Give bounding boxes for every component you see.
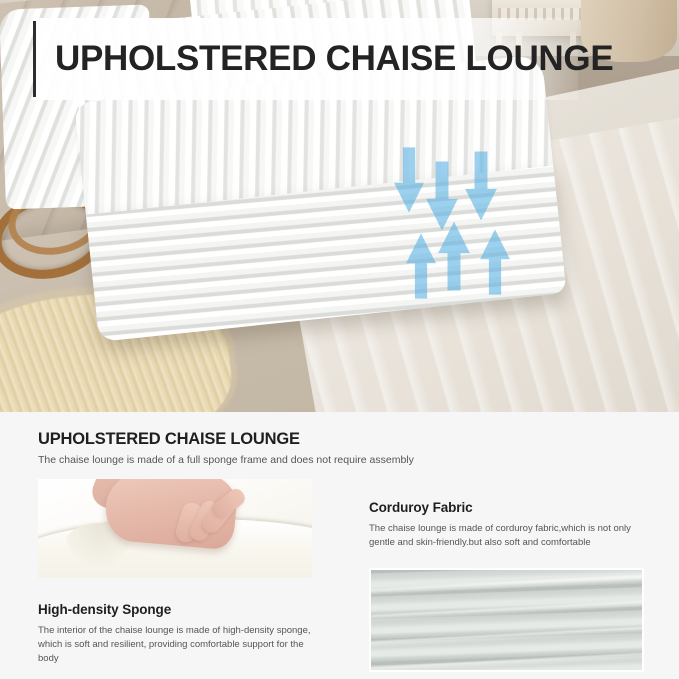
corduroy-photo bbox=[369, 568, 644, 672]
features-heading: UPHOLSTERED CHAISE LOUNGE bbox=[38, 430, 300, 449]
hero-title-banner: UPHOLSTERED CHAISE LOUNGE bbox=[33, 18, 578, 100]
hero-image: UPHOLSTERED CHAISE LOUNGE bbox=[0, 0, 679, 412]
airflow-arrow-up-5 bbox=[436, 220, 472, 292]
features-section: UPHOLSTERED CHAISE LOUNGE The chaise lou… bbox=[0, 412, 679, 679]
airflow-arrow-up-6 bbox=[478, 228, 512, 296]
airflow-arrow-down-1 bbox=[392, 146, 426, 214]
corduroy-title: Corduroy Fabric bbox=[369, 500, 473, 515]
sponge-title: High-density Sponge bbox=[38, 602, 171, 617]
sponge-photo bbox=[38, 479, 312, 578]
sponge-body: The interior of the chaise lounge is mad… bbox=[38, 624, 318, 665]
product-detail-page: UPHOLSTERED CHAISE LOUNGE UPHOLSTERED CH… bbox=[0, 0, 679, 679]
features-subtext: The chaise lounge is made of a full spon… bbox=[38, 453, 458, 468]
page-title: UPHOLSTERED CHAISE LOUNGE bbox=[55, 39, 613, 79]
airflow-arrow-down-3 bbox=[463, 150, 499, 222]
banner-accent-bar bbox=[33, 21, 36, 97]
airflow-arrow-up-4 bbox=[404, 232, 438, 300]
corduroy-body: The chaise lounge is made of corduroy fa… bbox=[369, 522, 631, 550]
corduroy-texture bbox=[371, 570, 642, 670]
